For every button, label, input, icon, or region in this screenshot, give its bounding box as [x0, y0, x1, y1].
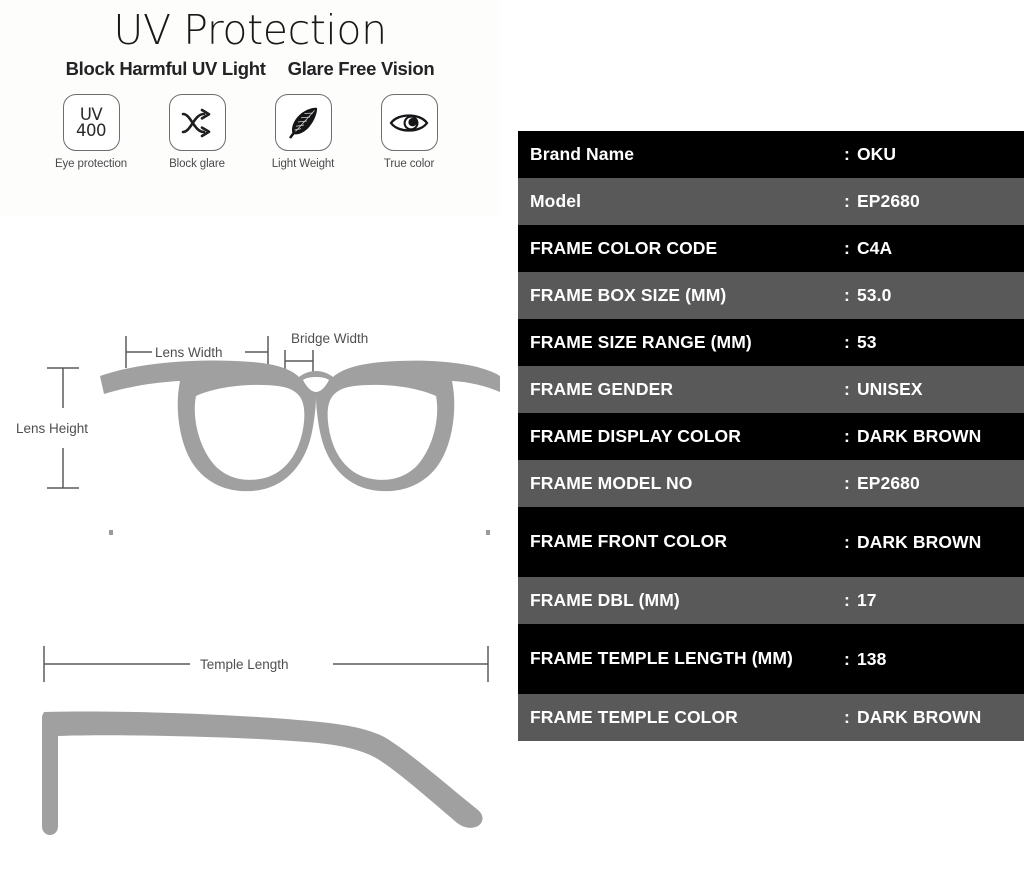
spec-value: :DARK BROWN: [844, 532, 1024, 553]
subtitle-glare-free: Glare Free Vision: [288, 58, 435, 80]
spec-value-text: DARK BROWN: [857, 707, 981, 727]
feature-caption-block-glare: Block glare: [169, 158, 225, 170]
spec-value: :C4A: [844, 238, 1024, 259]
feature-light-weight: Light Weight: [263, 94, 343, 170]
uv400-line2: 400: [76, 123, 106, 139]
spec-row: FRAME DISPLAY COLOR:DARK BROWN: [518, 413, 1024, 460]
spec-row: FRAME MODEL NO:EP2680: [518, 460, 1024, 507]
subtitle-row: Block Harmful UV Light Glare Free Vision: [0, 58, 500, 80]
lens-openings: [195, 385, 437, 480]
spec-value-text: UNISEX: [857, 379, 923, 399]
temple-side-diagram: Temple Length: [0, 630, 500, 850]
spec-row: FRAME DBL (MM):17: [518, 577, 1024, 624]
spec-row: FRAME TEMPLE COLOR:DARK BROWN: [518, 694, 1024, 741]
page-title: UV Protection: [0, 0, 500, 52]
lens-width-label: Lens Width: [155, 345, 223, 360]
feature-icon-row: UV 400 Eye protection: [0, 94, 500, 170]
spec-label: FRAME DISPLAY COLOR: [518, 427, 844, 447]
spec-colon: :: [844, 238, 850, 258]
tick-mark-left: [109, 530, 113, 535]
spec-value-text: EP2680: [857, 191, 920, 211]
spec-value: :EP2680: [844, 473, 1024, 494]
spec-row: Brand Name:OKU: [518, 131, 1024, 178]
spec-value-text: DARK BROWN: [857, 426, 981, 446]
spec-row: FRAME BOX SIZE (MM):53.0: [518, 272, 1024, 319]
feature-eye-protection: UV 400 Eye protection: [51, 94, 131, 170]
spec-value: :138: [844, 649, 1024, 670]
spec-label: FRAME GENDER: [518, 380, 844, 400]
bridge-width-dimension: [285, 350, 313, 372]
spec-label: FRAME DBL (MM): [518, 591, 844, 611]
subtitle-block-uv: Block Harmful UV Light: [66, 58, 266, 80]
spec-colon: :: [844, 426, 850, 446]
spec-label: FRAME FRONT COLOR: [518, 532, 844, 552]
spec-label: Brand Name: [518, 145, 844, 165]
spec-value-text: 138: [857, 649, 887, 669]
feature-caption-true-color: True color: [384, 158, 434, 170]
lens-height-label: Lens Height: [16, 421, 88, 436]
spec-value: :DARK BROWN: [844, 707, 1024, 728]
spec-value-text: 53.0: [857, 285, 891, 305]
spec-colon: :: [844, 590, 850, 610]
spec-value: :17: [844, 590, 1024, 611]
spec-row: FRAME FRONT COLOR:DARK BROWN: [518, 507, 1024, 577]
left-illustration-panel: UV Protection Block Harmful UV Light Gla…: [0, 0, 500, 886]
frame-front-diagram: Lens Width Bridge Width Lens Height: [0, 300, 500, 560]
spec-label: FRAME TEMPLE COLOR: [518, 708, 844, 728]
feature-true-color: True color: [369, 94, 449, 170]
feature-caption-eye-protection: Eye protection: [55, 158, 127, 170]
spec-row: FRAME COLOR CODE:C4A: [518, 225, 1024, 272]
spec-value: :53.0: [844, 285, 1024, 306]
bridge-width-label: Bridge Width: [291, 331, 368, 346]
spec-colon: :: [844, 473, 850, 493]
spec-row: FRAME TEMPLE LENGTH (MM):138: [518, 624, 1024, 694]
spec-value: :DARK BROWN: [844, 426, 1024, 447]
spec-label: FRAME TEMPLE LENGTH (MM): [518, 649, 844, 669]
spec-label: Model: [518, 192, 844, 212]
feather-icon: [275, 94, 332, 151]
spec-colon: :: [844, 332, 850, 352]
eye-icon: [381, 94, 438, 151]
spec-value-text: EP2680: [857, 473, 920, 493]
spec-row: FRAME GENDER:UNISEX: [518, 366, 1024, 413]
spec-value-text: 17: [857, 590, 877, 610]
spec-label: FRAME MODEL NO: [518, 474, 844, 494]
spec-colon: :: [844, 532, 850, 552]
spec-label: FRAME SIZE RANGE (MM): [518, 333, 844, 353]
spec-colon: :: [844, 144, 850, 164]
shuffle-arrows-icon: [169, 94, 226, 151]
uv400-icon: UV 400: [63, 94, 120, 151]
spec-value: :53: [844, 332, 1024, 353]
uv-protection-header: UV Protection Block Harmful UV Light Gla…: [0, 0, 500, 215]
spec-colon: :: [844, 649, 850, 669]
spec-colon: :: [844, 191, 850, 211]
spec-colon: :: [844, 379, 850, 399]
spec-value-text: C4A: [857, 238, 892, 258]
temple-arm-shape: [42, 711, 483, 835]
specification-table: Brand Name:OKUModel:EP2680FRAME COLOR CO…: [518, 131, 1024, 741]
spec-label: FRAME BOX SIZE (MM): [518, 286, 844, 306]
temple-length-label: Temple Length: [200, 657, 289, 672]
spec-value: :UNISEX: [844, 379, 1024, 400]
spec-row: FRAME SIZE RANGE (MM):53: [518, 319, 1024, 366]
spec-row: Model:EP2680: [518, 178, 1024, 225]
spec-colon: :: [844, 285, 850, 305]
product-spec-sheet: UV Protection Block Harmful UV Light Gla…: [0, 0, 1024, 886]
spec-value-text: 53: [857, 332, 877, 352]
spec-value-text: DARK BROWN: [857, 532, 981, 552]
spec-value-text: OKU: [857, 144, 896, 164]
spec-label: FRAME COLOR CODE: [518, 239, 844, 259]
feature-caption-light-weight: Light Weight: [272, 158, 335, 170]
feature-block-glare: Block glare: [157, 94, 237, 170]
tick-mark-right: [486, 530, 490, 535]
spec-value: :EP2680: [844, 191, 1024, 212]
spec-value: :OKU: [844, 144, 1024, 165]
spec-colon: :: [844, 707, 850, 727]
